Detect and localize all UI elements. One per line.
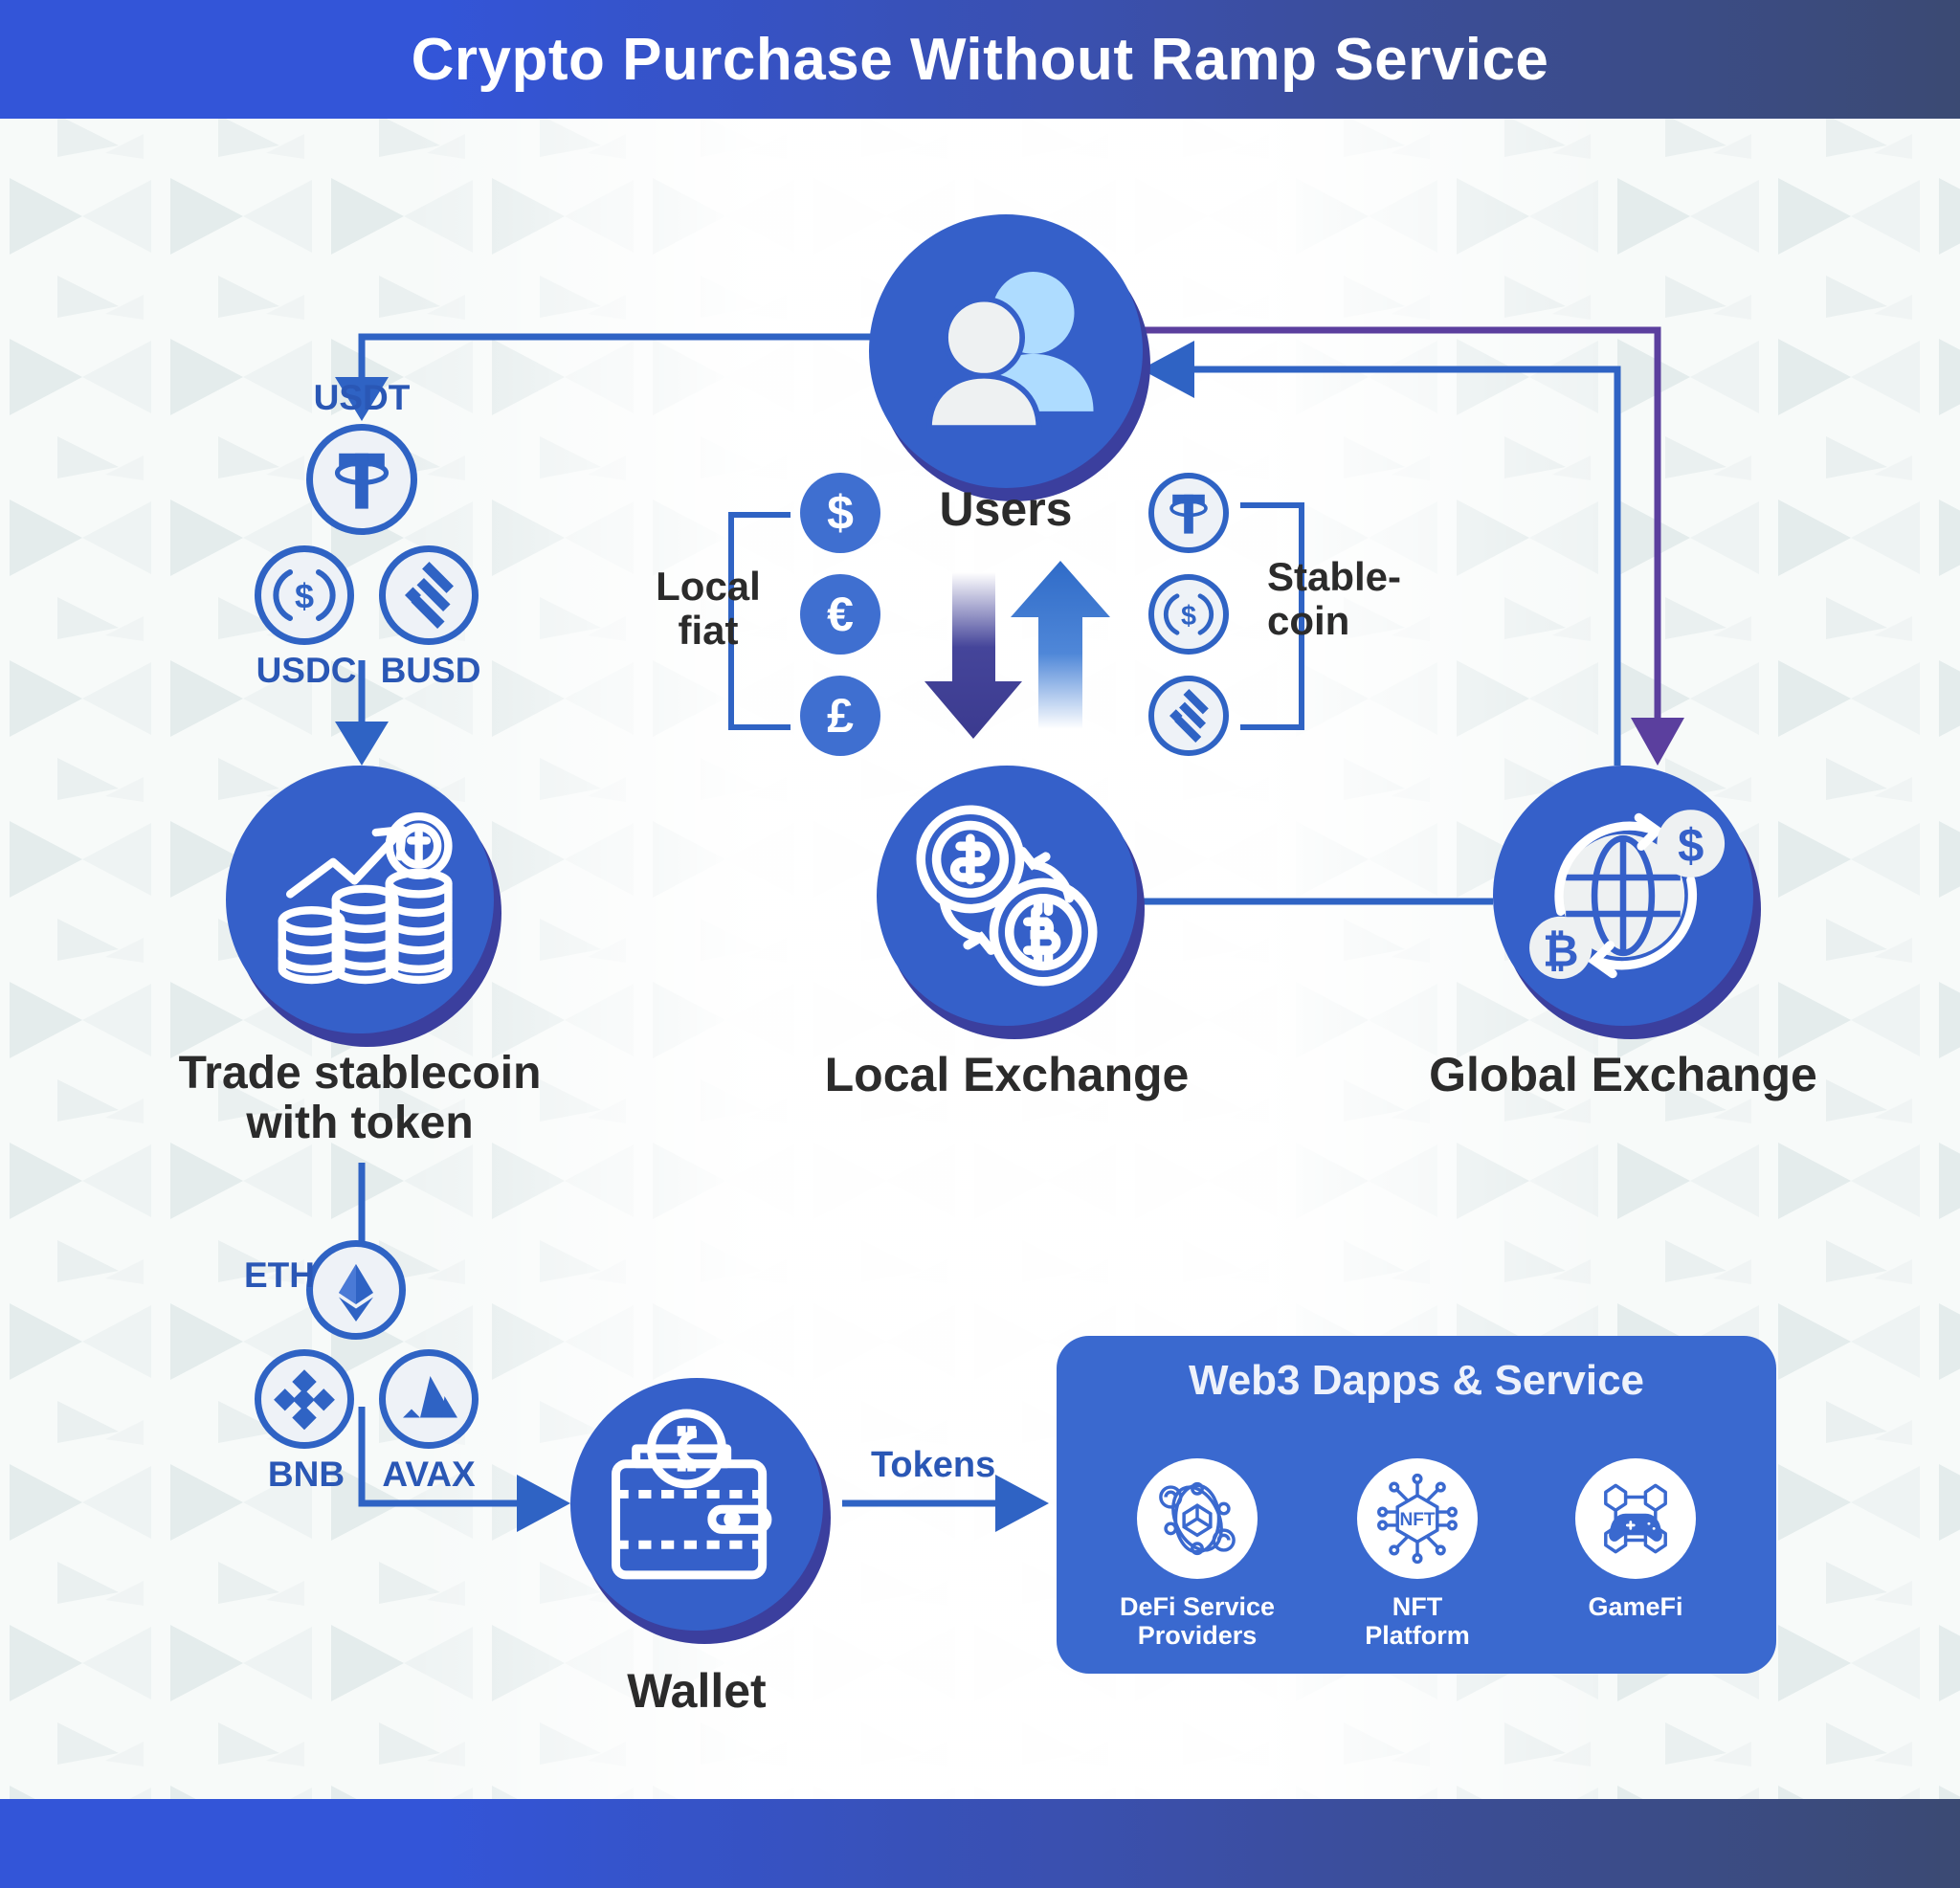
nft-hexagon-icon: NFT <box>1368 1469 1467 1568</box>
binance-icon[interactable] <box>255 1349 354 1449</box>
trade-disc <box>226 766 494 1033</box>
node-trade-label: Trade stablecoin with token <box>140 1049 580 1148</box>
nft-label-line1: NFT <box>1392 1592 1442 1621</box>
token-label-busd: BUSD <box>354 651 507 691</box>
defi-orbit-icon <box>1147 1469 1247 1568</box>
arrowhead-down-global <box>1631 718 1684 766</box>
globe-exchange-icon: $ ₿ <box>1493 766 1753 1026</box>
wallet-coin-icon <box>570 1378 823 1631</box>
nft-hexagon-bubble: NFT <box>1357 1458 1478 1579</box>
arrowhead-down-trade <box>335 722 389 766</box>
stablecoin-line1: Stable- <box>1267 554 1401 599</box>
nft-label-line2: Platform <box>1365 1621 1470 1650</box>
users-icon <box>869 214 1143 488</box>
gamepad-blocks-icon <box>1586 1469 1685 1568</box>
tokens-flow-label: Tokens <box>871 1445 995 1486</box>
svg-text:$: $ <box>1181 601 1196 632</box>
token-label-eth: ETH <box>222 1255 337 1296</box>
stablecoin-line2: coin <box>1267 598 1349 643</box>
local-exchange-disc <box>877 766 1137 1026</box>
node-trade-stablecoin[interactable] <box>226 766 494 1033</box>
usdc-icon-right[interactable]: $ <box>1148 574 1229 655</box>
defi-label-line1: DeFi Service <box>1120 1592 1275 1621</box>
down-arrow-fiat <box>924 572 1022 739</box>
trade-label-line2: with token <box>246 1098 473 1148</box>
gamepad-blocks-bubble <box>1575 1458 1696 1579</box>
web3-item-nft[interactable]: NFT NFT Platform <box>1307 1458 1527 1650</box>
node-users[interactable] <box>869 214 1143 488</box>
defi-orbit-bubble <box>1137 1458 1258 1579</box>
local-fiat-line2: fiat <box>679 608 739 653</box>
web3-item-gamefi-label: GameFi <box>1526 1592 1746 1621</box>
svg-text:$: $ <box>1678 821 1704 873</box>
svg-text:₿: ₿ <box>1543 925 1579 975</box>
node-global-exchange[interactable]: $ ₿ <box>1493 766 1753 1026</box>
local-fiat-label: Local fiat <box>612 565 804 653</box>
busd-icon[interactable] <box>379 545 479 645</box>
web3-item-nft-label: NFT Platform <box>1307 1592 1527 1650</box>
web3-panel-title: Web3 Dapps & Service <box>1057 1357 1776 1405</box>
node-local-exchange[interactable] <box>877 766 1137 1026</box>
token-label-avax: AVAX <box>352 1455 505 1495</box>
node-local-exchange-label: Local Exchange <box>768 1049 1246 1100</box>
node-wallet[interactable] <box>570 1378 823 1631</box>
infographic-canvas: Crypto Purchase Without Ramp Service <box>0 0 1960 1888</box>
node-global-exchange-label: Global Exchange <box>1384 1049 1862 1100</box>
web3-item-defi-label: DeFi Service Providers <box>1087 1592 1307 1650</box>
pound-coin-icon[interactable]: £ <box>800 676 880 756</box>
local-fiat-line1: Local <box>656 564 761 609</box>
global-exchange-disc: $ ₿ <box>1493 766 1753 1026</box>
gamefi-label-line1: GameFi <box>1588 1592 1682 1621</box>
up-arrow-crypto <box>1011 561 1110 729</box>
fiat-crypto-swap-icon <box>877 766 1137 1026</box>
busd-icon-right[interactable] <box>1148 676 1229 756</box>
stablecoin-label: Stable- coin <box>1267 555 1497 643</box>
svg-text:$: $ <box>295 577 314 616</box>
node-wallet-label: Wallet <box>570 1665 823 1717</box>
node-users-label: Users <box>869 483 1143 535</box>
growth-coins-icon <box>226 766 494 1033</box>
usdc-icon[interactable]: $ <box>255 545 354 645</box>
tether-icon-right[interactable] <box>1148 473 1229 553</box>
avalanche-icon[interactable] <box>379 1349 479 1449</box>
web3-item-defi[interactable]: DeFi Service Providers <box>1087 1458 1307 1650</box>
arrowhead-right-web3 <box>995 1475 1049 1532</box>
users-disc <box>869 214 1143 488</box>
web3-item-gamefi[interactable]: GameFi <box>1526 1458 1746 1621</box>
tether-icon[interactable] <box>306 424 417 535</box>
defi-label-line2: Providers <box>1138 1621 1258 1650</box>
web3-dapps-panel: Web3 Dapps & Service <box>1057 1336 1776 1674</box>
svg-text:NFT: NFT <box>1399 1510 1435 1530</box>
wallet-disc <box>570 1378 823 1631</box>
trade-label-line1: Trade stablecoin <box>179 1048 542 1099</box>
token-label-usdt: USDT <box>285 378 438 418</box>
euro-coin-icon[interactable]: € <box>800 574 880 655</box>
arrowhead-right-wallet <box>517 1475 570 1532</box>
